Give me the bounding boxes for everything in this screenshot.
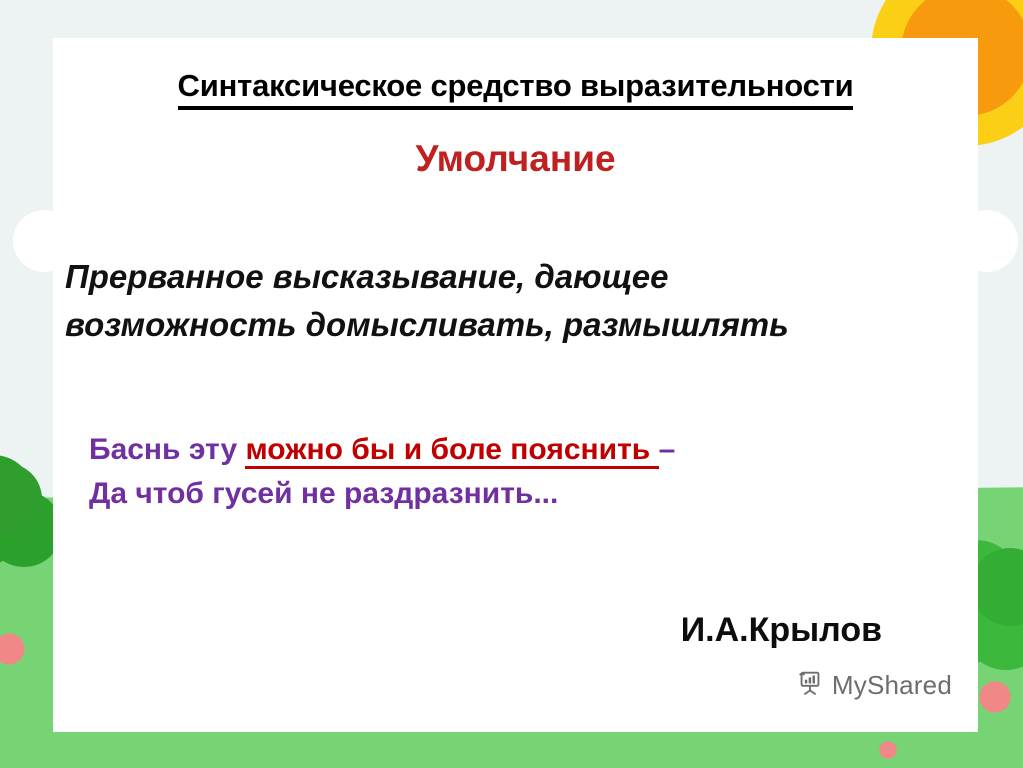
page-title: Синтаксическое средство выразительности [53,68,978,104]
slide-background: Синтаксическое средство выразительности … [0,0,1023,768]
definition-text: Прерванное высказывание, дающее возможно… [65,253,958,349]
card-notch-right [956,210,1018,272]
quote-line-1-dash: – [659,433,676,466]
author-attribution: И.А.Крылов [681,611,882,650]
definition-line-2: возможность домысливать, размышлять [65,301,958,349]
watermark-label: MyShared [832,670,952,701]
flower-icon [982,684,1008,710]
quote-highlight: можно бы и боле пояснить [245,433,658,469]
page-title-text: Синтаксическое средство выразительности [178,68,854,110]
flower-icon [880,742,896,758]
quote-line-2: Да чтоб гусей не раздразнить... [89,472,958,516]
content-card: Синтаксическое средство выразительности … [53,38,978,732]
quote-line-1-lead: Баснь эту [89,433,245,466]
term-heading: Умолчание [53,138,978,180]
presentation-board-icon [795,668,825,703]
flower-icon [0,636,22,662]
quote-text: Баснь эту можно бы и боле пояснить – Да … [89,428,958,515]
definition-line-1: Прерванное высказывание, дающее [65,253,958,301]
quote-line-1: Баснь эту можно бы и боле пояснить – [89,428,958,472]
watermark: MyShared [795,668,952,703]
